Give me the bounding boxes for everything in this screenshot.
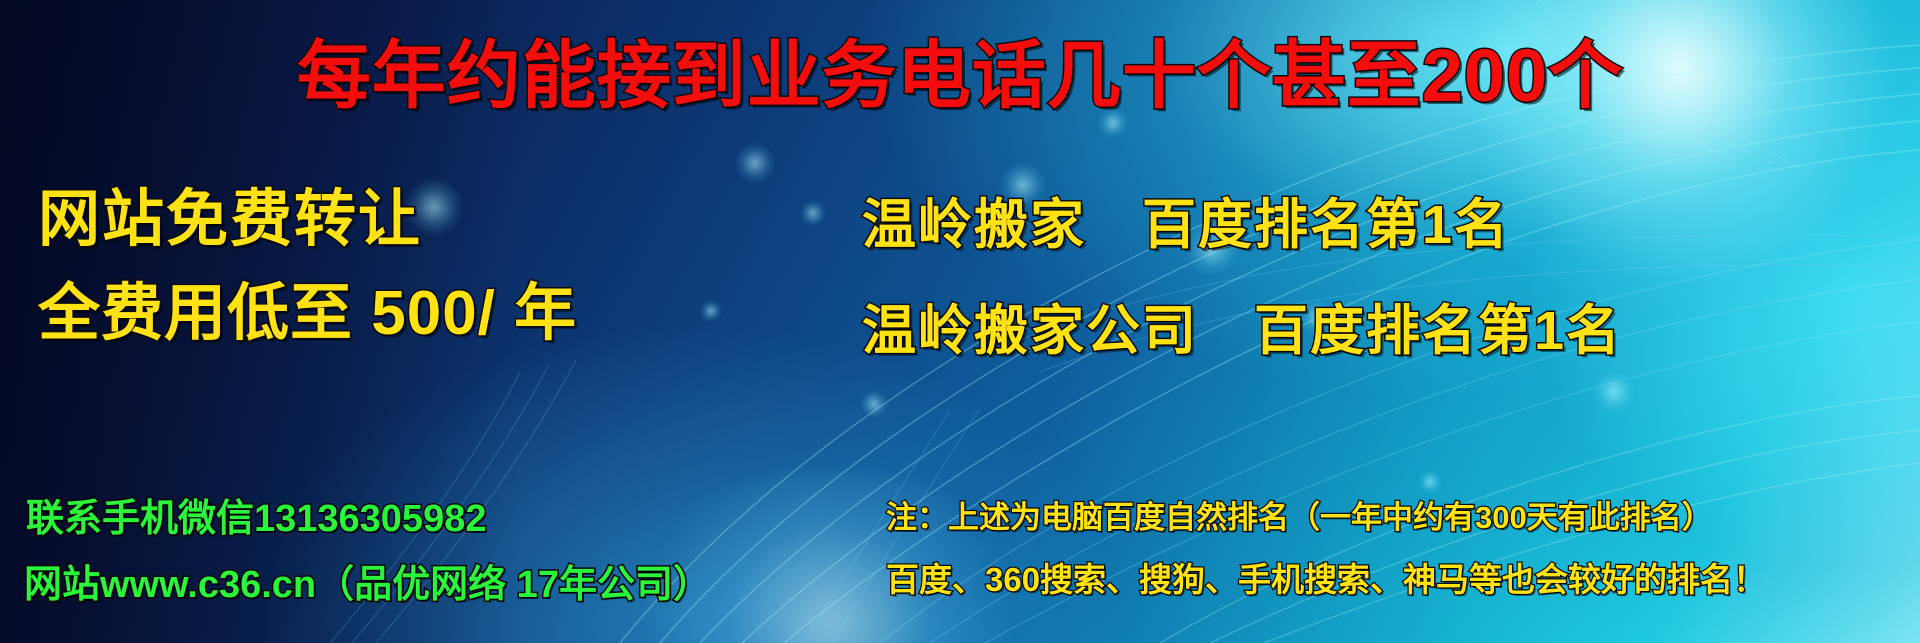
bokeh-dot	[800, 200, 826, 226]
contact-phone-wechat: 联系手机微信13136305982	[26, 487, 486, 542]
ranking-line-wenling-moving-company: 温岭搬家公司 百度排名第1名	[862, 286, 1622, 365]
contact-website: 网站www.c36.cn（品优网络 17年公司）	[24, 553, 711, 608]
bokeh-dot	[1592, 370, 1636, 414]
bokeh-dot	[735, 143, 775, 183]
bokeh-dot	[860, 390, 888, 418]
bokeh-dot	[1418, 470, 1442, 494]
footnote-other-search-engines: 百度、360搜索、搜狗、手机搜索、神马等也会较好的排名！	[886, 553, 1766, 601]
footnote-baidu-natural-ranking: 注：上述为电脑百度自然排名（一年中约有300天有此排名）	[886, 492, 1713, 537]
offer-line-price: 全费用低至 500/ 年	[38, 262, 577, 352]
headline-text: 每年约能接到业务电话几十个甚至200个	[0, 16, 1920, 123]
ranking-line-wenling-moving: 温岭搬家 百度排名第1名	[862, 180, 1510, 259]
promo-banner: 每年约能接到业务电话几十个甚至200个 网站免费转让 全费用低至 500/ 年 …	[0, 0, 1920, 643]
offer-line-transfer: 网站免费转让	[38, 168, 422, 258]
bokeh-dot	[700, 300, 722, 322]
